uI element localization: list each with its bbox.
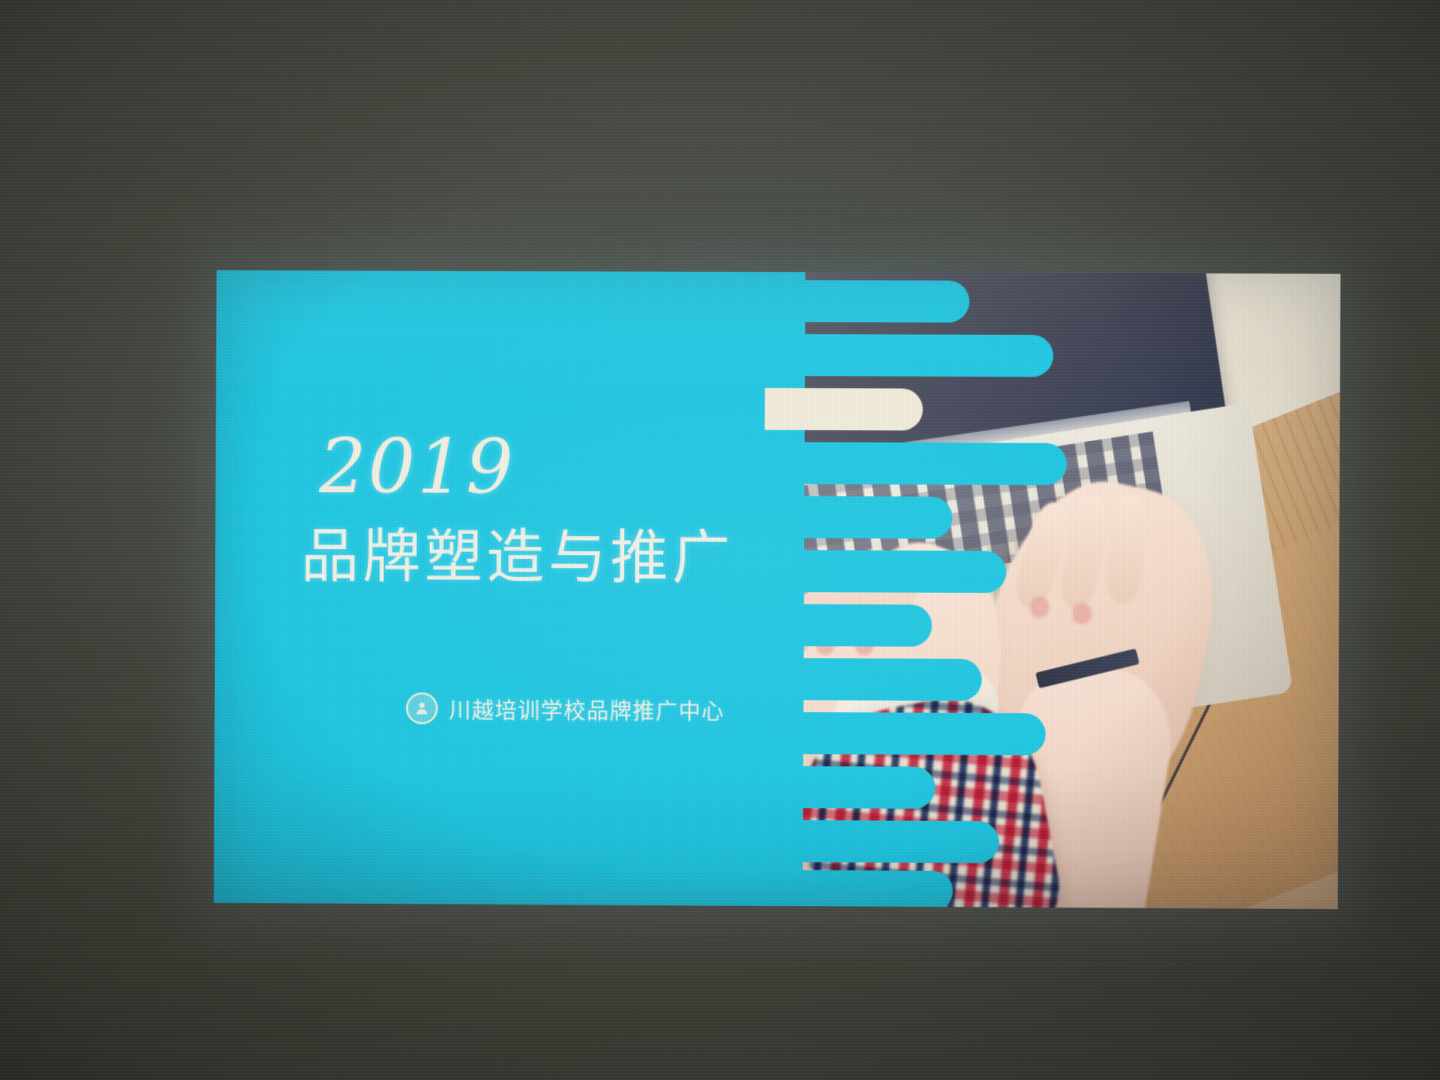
- projected-slide: 2019 品牌塑造与推广 川越培训学校品牌推广中心: [214, 270, 1341, 909]
- user-avatar-icon: [406, 692, 438, 724]
- byline-label: 川越培训学校品牌推广中心: [449, 692, 725, 725]
- slide-text-block: 2019 品牌塑造与推广 川越培训学校品牌推广中心: [214, 270, 1341, 909]
- slide-headline: 品牌塑造与推广: [301, 528, 734, 588]
- slide-canvas: 2019 品牌塑造与推广 川越培训学校品牌推广中心: [214, 270, 1341, 909]
- slide-year: 2019: [319, 430, 515, 505]
- slide-byline: 川越培训学校品牌推广中心: [406, 692, 725, 726]
